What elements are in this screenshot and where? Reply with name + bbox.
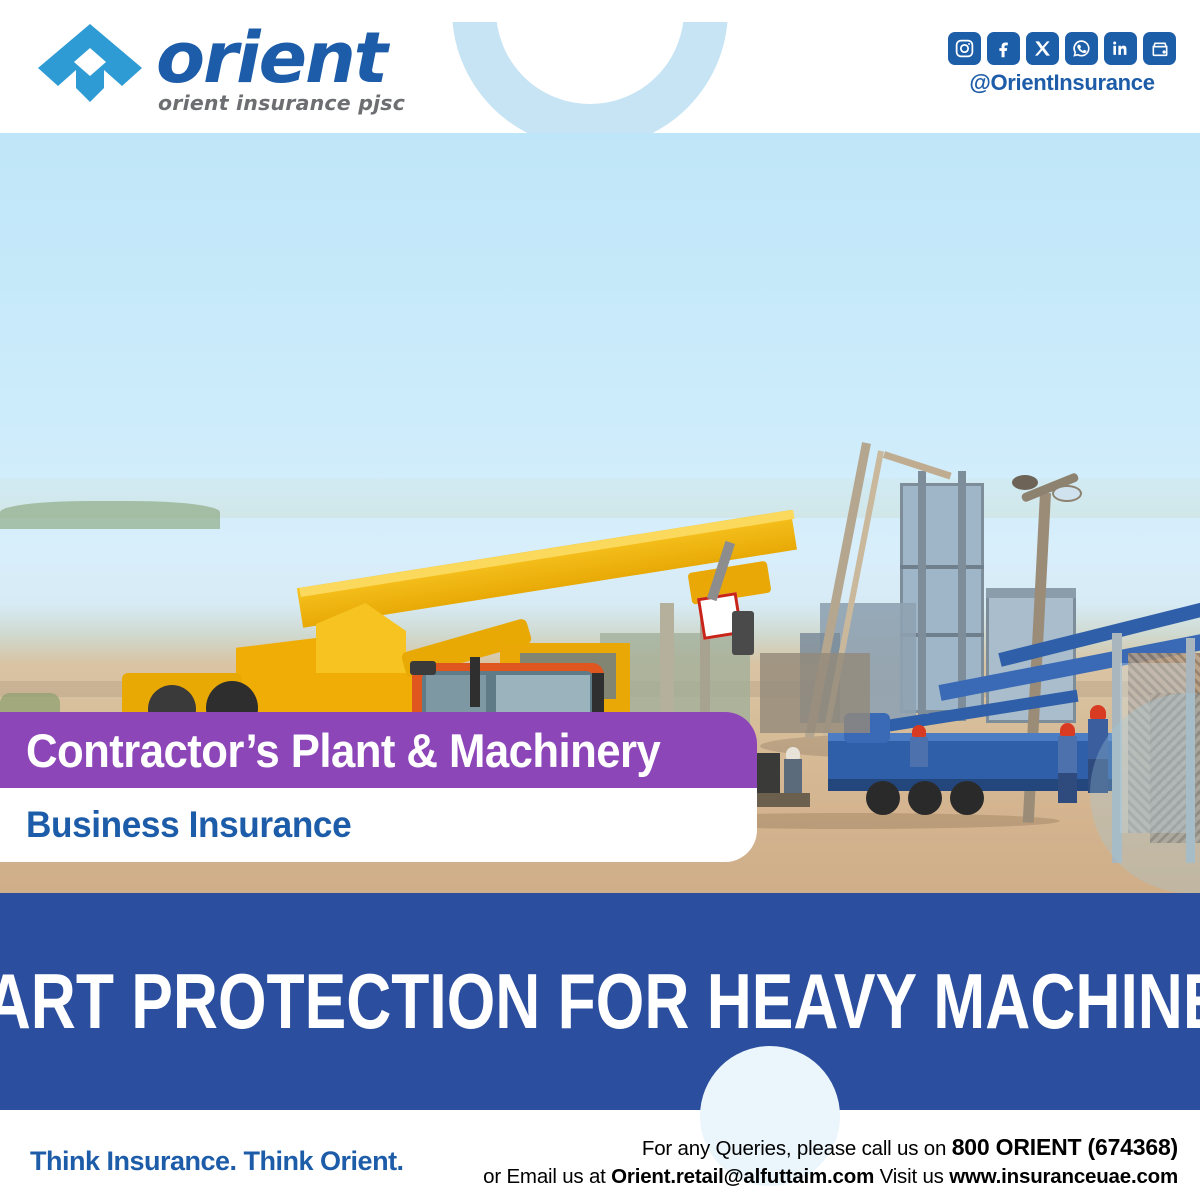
photo-crane-hook-block	[732, 611, 754, 655]
header-arc-mask	[452, 0, 728, 22]
brand-tagline: Think Insurance. Think Orient.	[30, 1146, 404, 1177]
photo-worker-body-4	[784, 759, 802, 793]
email-prefix: or Email us at	[483, 1165, 611, 1188]
linkedin-icon[interactable]	[1104, 32, 1137, 65]
contact-line-phone: For any Queries, please call us on 800 O…	[483, 1132, 1178, 1163]
footer-bar: Think Insurance. Think Orient. For any Q…	[0, 1110, 1200, 1200]
photo-worker-helmet-4	[786, 747, 800, 759]
contact-line-email: or Email us at Orient.retail@alfuttaim.c…	[483, 1163, 1178, 1190]
contact-email[interactable]: Orient.retail@alfuttaim.com	[611, 1165, 874, 1188]
photo-mid-block	[760, 653, 870, 733]
social-icon-row	[948, 32, 1176, 65]
contact-phone[interactable]: 800 ORIENT (674368)	[952, 1134, 1178, 1160]
facebook-icon[interactable]	[987, 32, 1020, 65]
product-title: Contractor’s Plant & Machinery	[26, 723, 660, 778]
product-subtitle: Business Insurance	[26, 804, 351, 846]
brand-name: orient	[156, 26, 410, 90]
contact-block: For any Queries, please call us on 800 O…	[483, 1132, 1178, 1190]
photo-blue-lorry-wheel-1	[866, 781, 900, 815]
x-twitter-icon[interactable]	[1026, 32, 1059, 65]
product-title-banner: Contractor’s Plant & Machinery	[0, 712, 757, 788]
photo-worker-legs-2	[1058, 773, 1077, 803]
brand-wordmark: orient orient insurance pjsc	[156, 26, 405, 115]
headline-text: SMART PROTECTION FOR HEAVY MACHINERY	[0, 956, 1200, 1047]
photo-light-lamp	[1052, 485, 1082, 502]
photo-truck-mirror-arm	[470, 657, 480, 707]
photo-worker-helmet-3	[912, 725, 926, 737]
orient-diamond-icon	[36, 22, 144, 114]
brand-logo[interactable]: orient orient insurance pjsc	[36, 22, 405, 115]
photo-blue-lorry-wheel-3	[950, 781, 984, 815]
instagram-icon[interactable]	[948, 32, 981, 65]
contact-website[interactable]: www.insuranceuae.com	[949, 1165, 1178, 1188]
visit-prefix: Visit us	[874, 1165, 949, 1188]
photo-steel-tower-a-brace	[900, 565, 984, 569]
social-handle[interactable]: @OrientInsurance	[948, 70, 1176, 96]
photo-steel-tower-b-cap	[986, 588, 1076, 598]
photo-steel-column-a	[918, 471, 926, 721]
headline-band: SMART PROTECTION FOR HEAVY MACHINERY	[0, 893, 1200, 1110]
queries-prefix: For any Queries, please call us on	[642, 1137, 952, 1160]
social-links: @OrientInsurance	[948, 32, 1176, 96]
photo-truck-mirror-left	[410, 661, 436, 675]
photo-light-fixture	[1012, 475, 1038, 490]
whatsapp-icon[interactable]	[1065, 32, 1098, 65]
google-business-icon[interactable]	[1143, 32, 1176, 65]
photo-treeline	[0, 501, 220, 529]
header-bar: orient orient insurance pjsc	[0, 0, 1200, 133]
photo-worker-helmet-1	[1090, 705, 1106, 719]
photo-worker-body-3	[910, 737, 928, 767]
photo-blue-lorry-wheel-2	[908, 781, 942, 815]
photo-worker-helmet-2	[1060, 723, 1075, 736]
poster-canvas: orient orient insurance pjsc	[0, 0, 1200, 1200]
photo-worker-body-2	[1058, 736, 1077, 776]
product-subtitle-banner: Business Insurance	[0, 788, 757, 862]
